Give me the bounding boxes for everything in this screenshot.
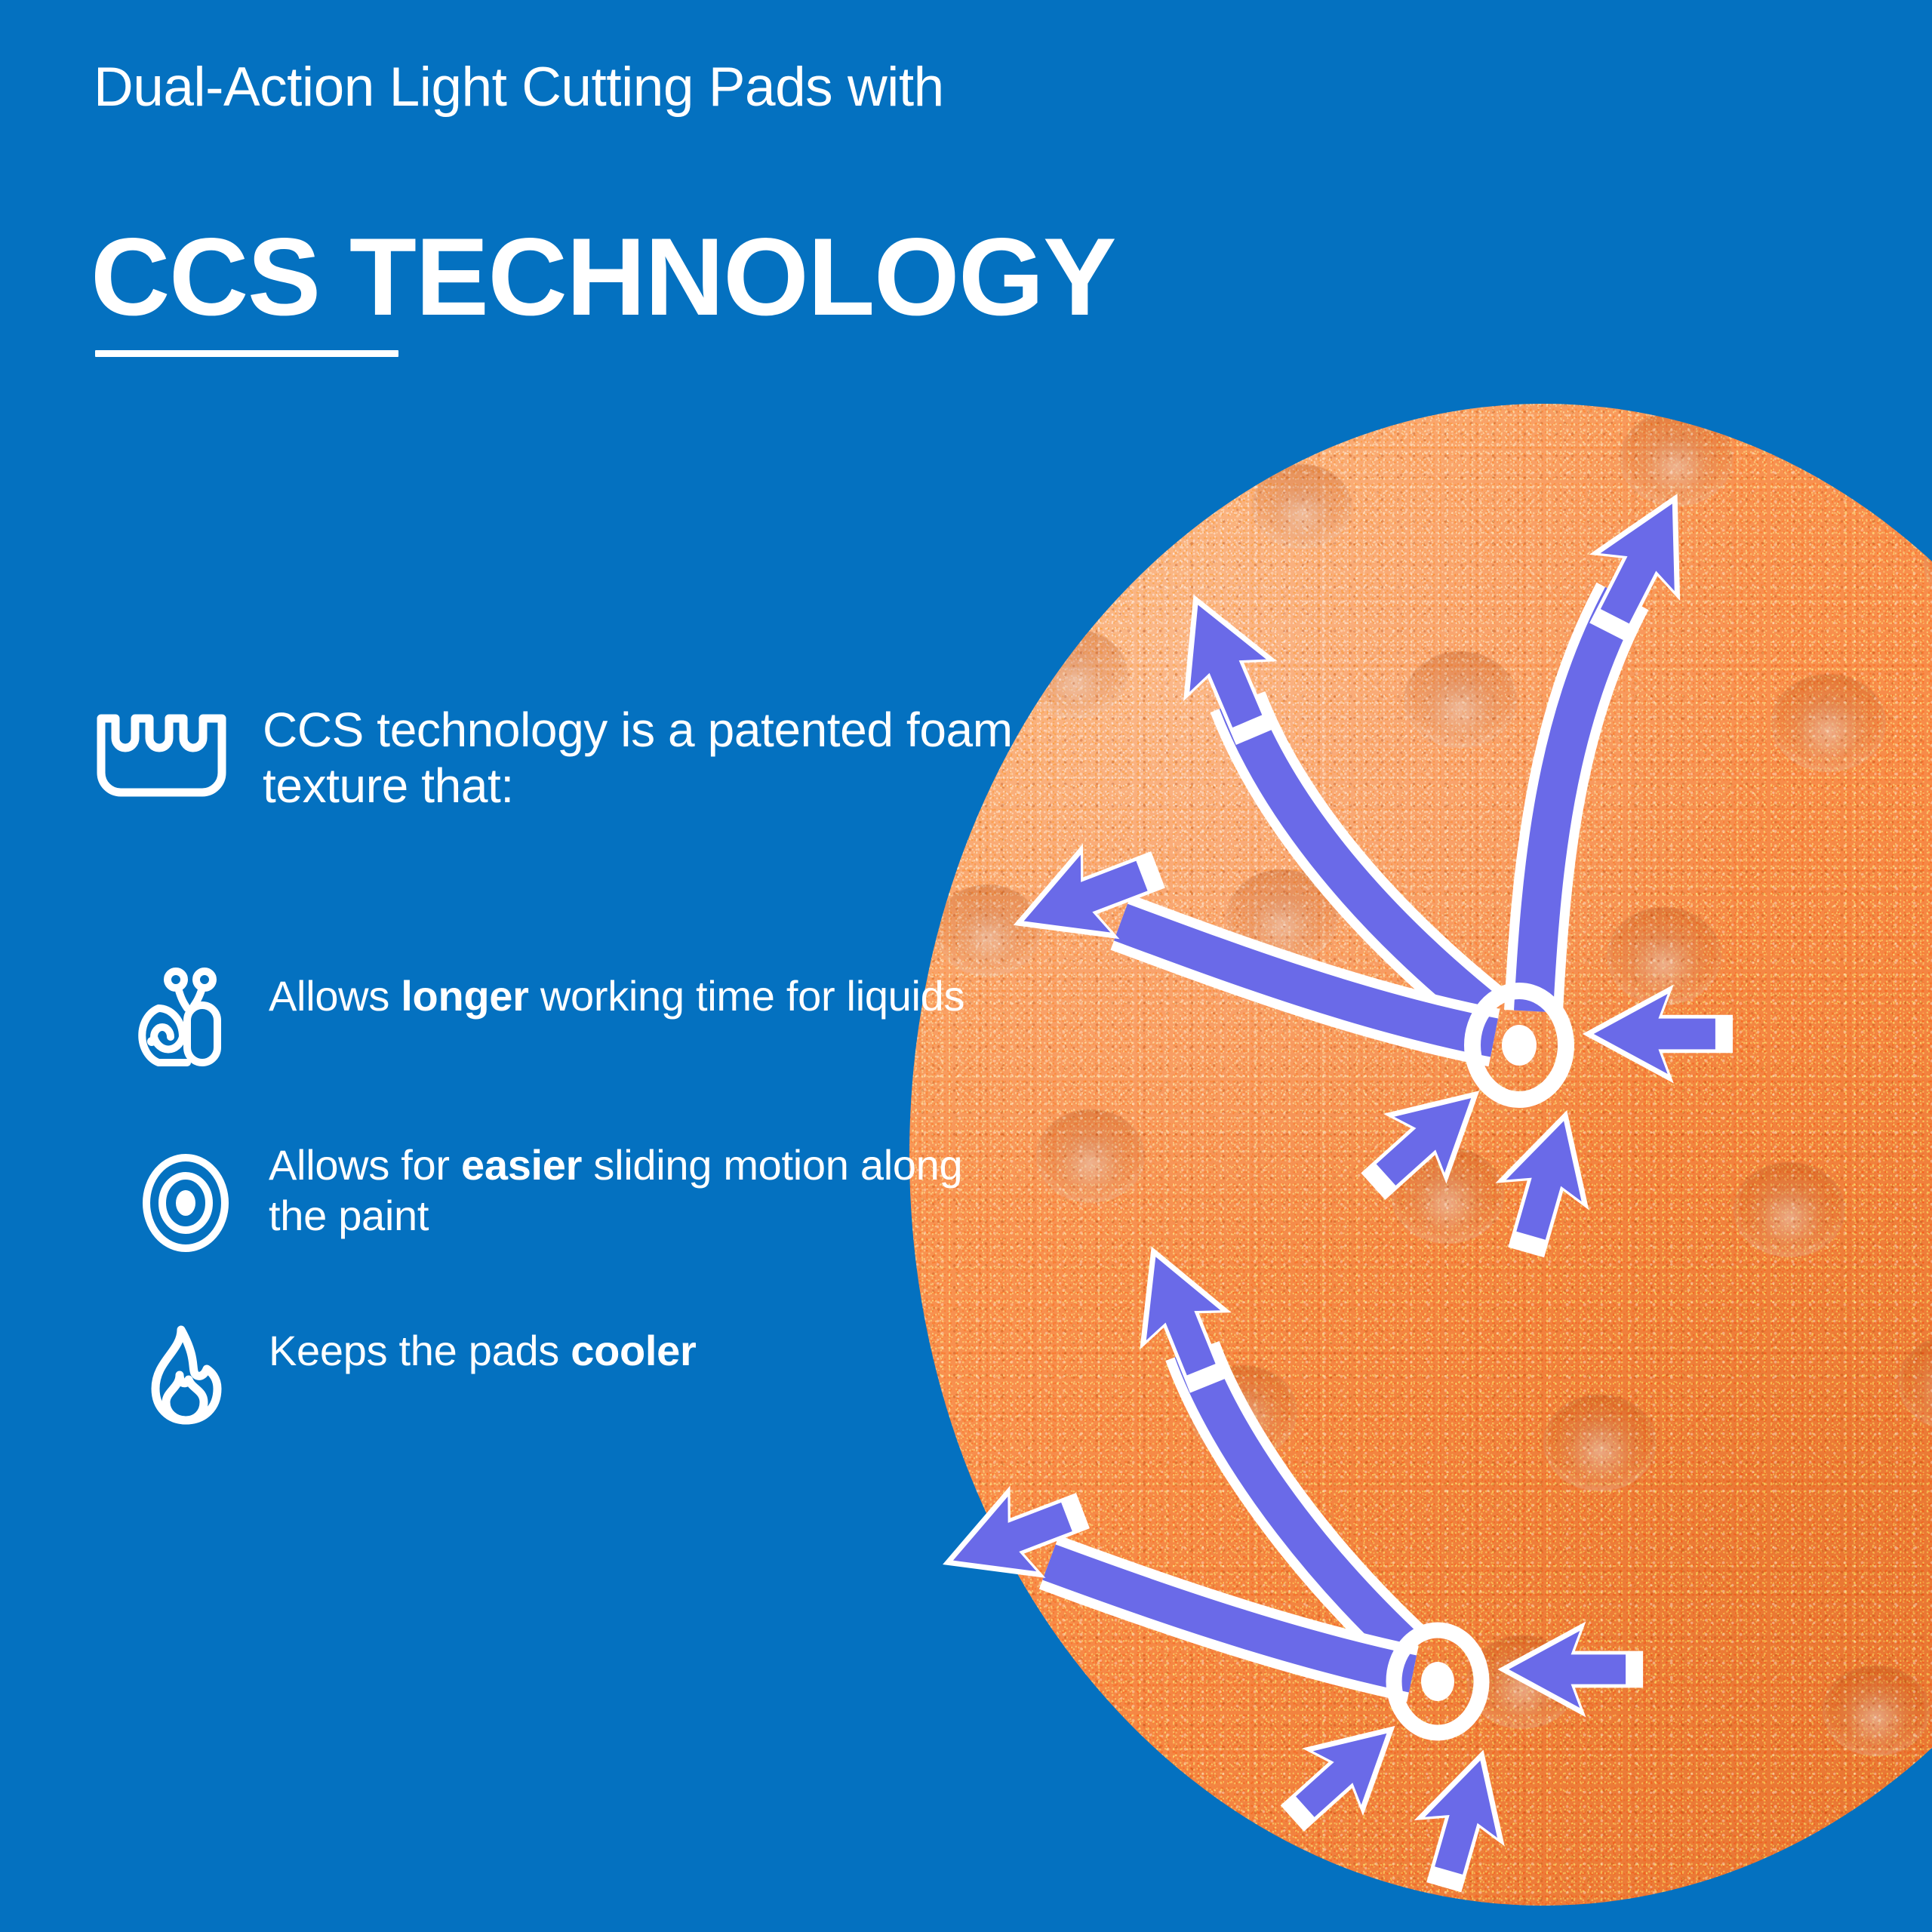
snail-icon <box>134 966 237 1069</box>
pad-dimple <box>1607 907 1721 1005</box>
infographic-canvas: Dual-Action Light Cutting Pads with CCS … <box>0 0 1932 1932</box>
pad-dimple <box>1898 1335 1932 1430</box>
orange-foam-pad <box>909 404 1932 1906</box>
arrow-in-from-below <box>1479 1097 1614 1266</box>
foam-pad-illustration <box>909 404 1932 1906</box>
pad-dimple <box>1771 674 1886 772</box>
list-item: Allows for easier sliding motion along t… <box>134 1135 1002 1254</box>
pad-dimple <box>1391 1147 1504 1244</box>
pad-dimple <box>1734 1162 1845 1257</box>
pad-dimple <box>1924 516 1932 610</box>
arrow-in-from-right <box>1583 984 1733 1083</box>
list-item: Keeps the pads cooler <box>134 1321 1002 1426</box>
pad-dimple <box>1467 1635 1577 1729</box>
ccs-pocket-lower <box>1394 1630 1481 1733</box>
page-title: CCS TECHNOLOGY <box>91 222 1524 332</box>
list-item: Allows longer working time for liquids <box>134 966 1002 1069</box>
ccs-pocket-upper <box>1472 991 1566 1100</box>
arrow-out-up-tall <box>1534 470 1723 1011</box>
pad-dimple <box>1226 869 1338 964</box>
arrow-out-lower-upper-left-long <box>1106 1228 1410 1651</box>
list-item-text: Allows for easier sliding motion along t… <box>269 1135 1002 1241</box>
arrow-in-lower-from-below <box>1398 1737 1528 1900</box>
arrow-out-lower-left-shallow <box>925 1464 1413 1674</box>
pad-dimple <box>1036 1109 1145 1203</box>
arrow-in-lower-from-lower-left <box>1262 1692 1426 1852</box>
arrow-in-from-lower-left <box>1342 1056 1511 1222</box>
title-divider <box>95 350 398 357</box>
pad-dimple <box>1823 1666 1930 1756</box>
list-item-text: Allows longer working time for liquids <box>269 966 964 1021</box>
lead-text: CCS technology is a patented foam textur… <box>263 702 1090 814</box>
pad-dimple <box>1189 1365 1297 1459</box>
arrow-in-lower-from-right <box>1497 1622 1643 1718</box>
pad-dimple <box>1543 1395 1657 1491</box>
flame-icon <box>134 1324 237 1426</box>
pad-dimple <box>935 884 1041 977</box>
lead-statement: CCS technology is a patented foam textur… <box>94 702 1090 814</box>
list-item-text: Keeps the pads cooler <box>269 1321 697 1376</box>
target-icon <box>134 1152 237 1254</box>
eyebrow-text: Dual-Action Light Cutting Pads with <box>94 59 1377 116</box>
pad-dimple <box>1620 411 1733 506</box>
arrow-out-upper-left-long <box>1146 574 1491 1015</box>
foam-texture-icon <box>94 708 229 801</box>
pad-dimple <box>1252 464 1352 549</box>
pad-dimple <box>1404 651 1517 748</box>
benefits-list: Allows longer working time for liquids A… <box>134 966 1002 1493</box>
arrow-out-left-shallow <box>995 822 1494 1038</box>
